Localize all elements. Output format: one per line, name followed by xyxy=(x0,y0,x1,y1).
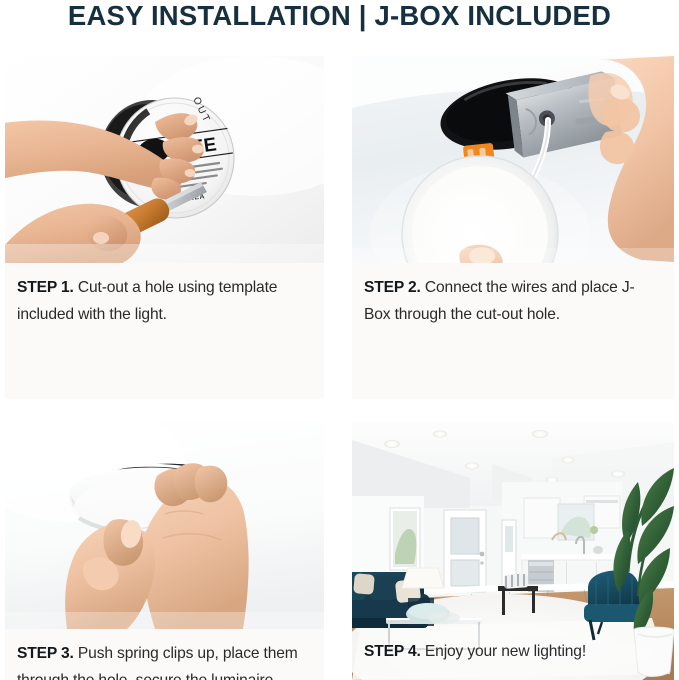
step-3-caption: STEP 3. Push spring clips up, place them… xyxy=(5,627,324,680)
page-header: EASY INSTALLATION | J-BOX INCLUDED xyxy=(0,0,679,44)
step-1-caption: STEP 1. Cut-out a hole using template in… xyxy=(5,261,324,329)
step-3-lead: STEP 3. xyxy=(17,645,74,662)
step-2-caption: STEP 2. Connect the wires and place J-Bo… xyxy=(352,261,674,329)
hand-inserting-jbox-into-ceiling-hole-illustration xyxy=(352,56,674,263)
step-2-lead: STEP 2. xyxy=(364,279,421,296)
step-card-3: STEP 3. Push spring clips up, place them… xyxy=(5,422,324,680)
step-3-image xyxy=(5,422,324,629)
step-4-lead: STEP 4. xyxy=(364,643,421,660)
step-4-caption: STEP 4. Enjoy your new lighting! xyxy=(352,627,674,666)
hands-pushing-luminaire-into-ceiling-illustration xyxy=(5,422,324,629)
step-2-image xyxy=(352,56,674,263)
page-title: EASY INSTALLATION | J-BOX INCLUDED xyxy=(68,2,611,31)
steps-grid: PLATE OUT PARTHEA xyxy=(0,44,679,680)
hands-cutting-hole-with-template-illustration: PLATE OUT PARTHEA xyxy=(5,56,324,263)
step-card-2: STEP 2. Connect the wires and place J-Bo… xyxy=(352,56,674,399)
step-card-1: PLATE OUT PARTHEA xyxy=(5,56,324,399)
step-1-image: PLATE OUT PARTHEA xyxy=(5,56,324,263)
step-4-text: Enjoy your new lighting! xyxy=(421,643,586,660)
step-1-lead: STEP 1. xyxy=(17,279,74,296)
step-card-4: STEP 4. Enjoy your new lighting! xyxy=(352,422,674,680)
